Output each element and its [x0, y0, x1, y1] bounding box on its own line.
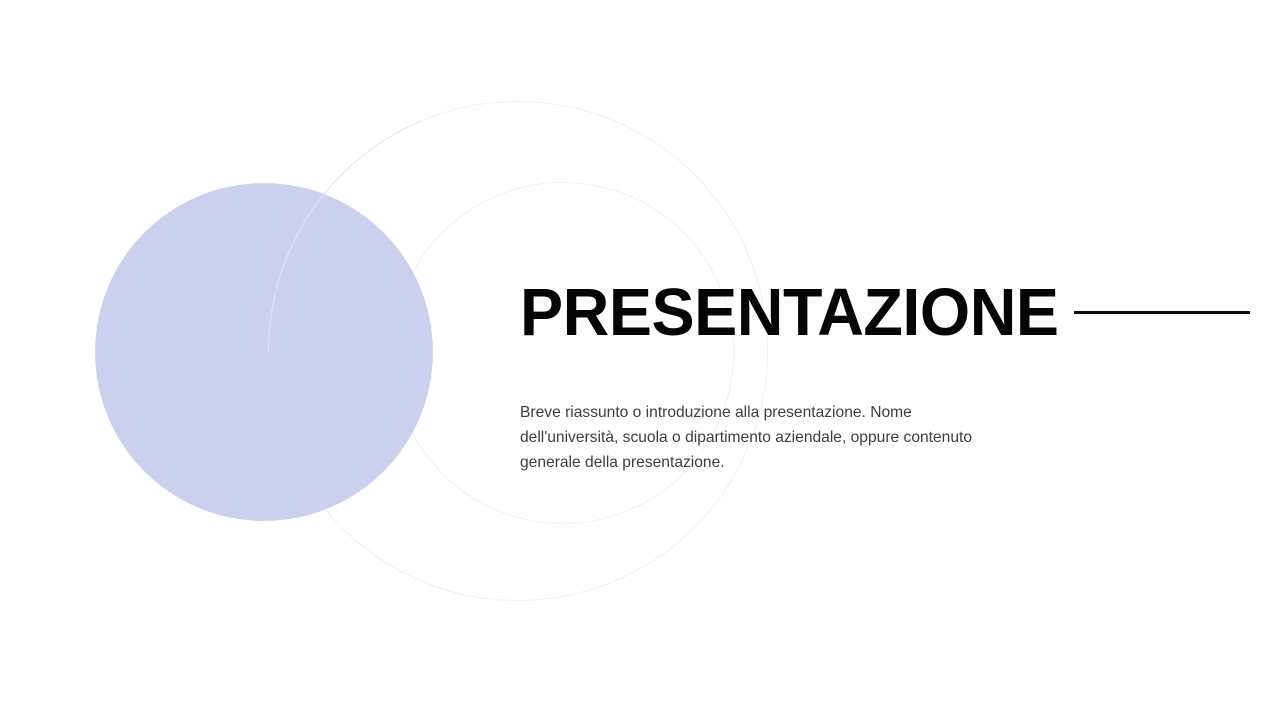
- title-row: PRESENTAZIONE: [520, 279, 1200, 346]
- page-title: PRESENTAZIONE: [520, 279, 1059, 346]
- slide-content: PRESENTAZIONE Breve riassunto o introduz…: [520, 0, 1220, 720]
- title-underline-rule: [1074, 311, 1250, 314]
- slide-subtitle: Breve riassunto o introduzione alla pres…: [520, 401, 990, 475]
- presentation-slide: PRESENTAZIONE Breve riassunto o introduz…: [0, 0, 1280, 720]
- lavender-circle-icon: [95, 183, 433, 521]
